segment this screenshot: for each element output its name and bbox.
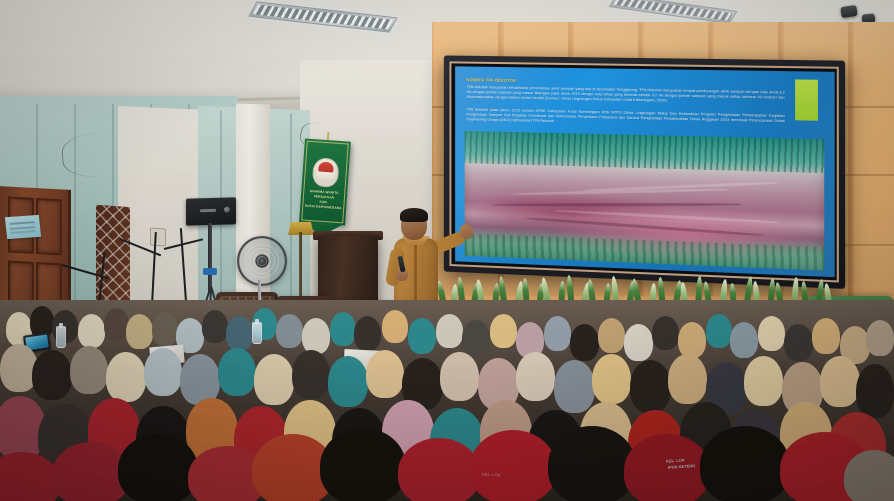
audience-member [436,314,463,348]
fan-hub-icon [256,255,269,268]
audience-member [382,310,408,343]
audience-member [592,354,631,404]
audience-member [730,322,758,358]
water-bottle [56,326,66,348]
audience-member [126,314,153,349]
speaker-tripod-pole [208,223,212,293]
audience-member [544,316,571,351]
audience-member [328,356,368,407]
slide-landfill-photo [465,131,825,271]
audience-member [548,426,636,501]
audience-member [106,352,146,402]
audience-member [490,314,517,348]
audience-member [844,450,894,501]
audience-member [144,348,182,396]
audience-member [398,438,480,501]
audience-member [784,324,813,361]
audience-member [254,354,294,405]
audience-member [118,434,198,501]
audience-member [630,360,671,413]
slide-paragraph-1: TPA Bekotok merupakan infrastruktur pemr… [466,84,784,105]
slide-accent-block [795,79,818,120]
wall-socket-icon [150,228,166,247]
audience-area: KEL. LOA IPUH KETENG KEL. LOA [0,300,894,501]
audience-member [152,312,178,346]
speaker-hair [400,208,428,222]
audience-member [226,316,253,351]
audience-member [624,434,710,501]
shirt-text-line-1: KEL. LOA [482,472,501,478]
audience-member [598,318,625,353]
audience-member [354,316,381,351]
audience-member [462,320,490,356]
audience-member [744,356,783,406]
audience-member [70,346,108,394]
audience-member [218,348,256,396]
audience-member [78,314,105,348]
speaker-shirt-placket [414,240,417,302]
audience-member [32,350,72,400]
audience-member [812,318,840,354]
audience-member [302,318,330,354]
slide-paragraph-2: TPA bekotok pada tahun 2023 melalui APBD… [466,107,784,129]
audience-member [202,310,228,343]
audience-member [440,352,479,401]
audience-member [866,320,894,356]
audience-member [276,314,303,348]
water-bottle [252,322,262,344]
audience-member [706,314,732,348]
audience-member [408,318,436,354]
audience-member [320,428,406,501]
audience-member [700,426,790,501]
audience-member [820,356,860,407]
audience-member [470,430,556,501]
spotlight-icon [840,5,857,18]
audience-member [758,316,785,351]
presentation-screen[interactable]: KONDISI TPA BEKOTOK TPA Bekotok merupaka… [444,55,845,288]
standing-fan [237,236,287,286]
audience-member [330,312,356,346]
audience-member [652,316,679,350]
speaker-driver-icon [224,207,230,213]
audience-member [668,354,707,404]
audience-member [856,364,894,418]
audience-member [624,324,653,361]
meeting-hall-photo: DHARMA WANITA PERSATUAN KAB. KUTAI KARTA… [0,0,894,501]
pa-speaker [186,197,236,225]
door-notice-sign [5,215,41,239]
audience-member [678,322,706,358]
audience-member [292,350,330,399]
audience-member [366,350,404,398]
slide-canvas: KONDISI TPA BEKOTOK TPA Bekotok merupaka… [455,66,835,277]
audience-member [570,324,599,361]
tripod-clamp [203,268,217,275]
floor-lamp-stand [299,232,302,302]
organization-banner: DHARMA WANITA PERSATUAN KAB. KUTAI KARTA… [299,138,351,225]
audience-member [516,352,555,401]
audience-member [554,360,595,413]
